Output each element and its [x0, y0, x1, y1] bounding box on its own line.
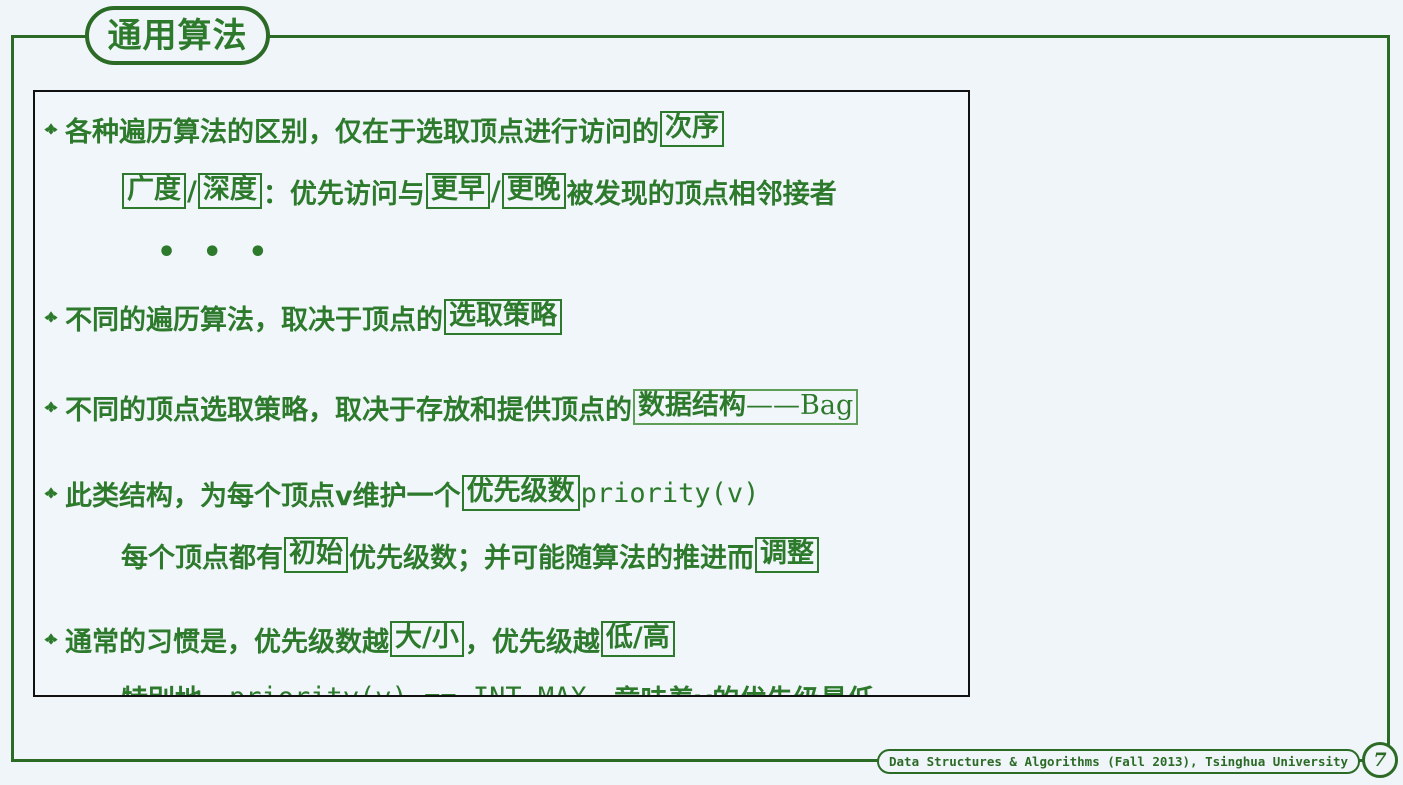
text-run: ——Bag	[746, 390, 853, 421]
bullet-line: 每个顶点都有初始优先级数；并可能随算法的推进而调整	[35, 532, 820, 578]
highlight-box: 更早	[426, 173, 490, 208]
footer-pill: Data Structures & Algorithms (Fall 2013)…	[877, 749, 1360, 774]
bullet-list: 各种遍历算法的区别，仅在于选取顶点进行访问的次序广度/深度：优先访问与更早/更晚…	[35, 98, 968, 695]
bullet-line: • • •	[35, 230, 275, 276]
diamond-bullet-icon	[41, 120, 61, 140]
highlight-box: 次序	[660, 111, 724, 146]
diamond-bullet-icon	[41, 398, 61, 418]
text-run: 优先级数；并可能随算法的推进而	[349, 536, 754, 575]
highlight-box: 数据结构——Bag	[633, 389, 858, 424]
text-run: 通常的习惯是，优先级数越	[65, 620, 389, 659]
highlight-box: 选取策略	[444, 299, 562, 334]
text-run: ，意味着v的优先级最低	[587, 678, 875, 698]
text-run: 特别地，	[121, 678, 229, 698]
text-run: ，优先级越	[465, 620, 600, 659]
text-run: /	[491, 176, 501, 207]
highlight-box: 更晚	[502, 173, 566, 208]
text-run: 此类结构，为每个顶点v维护一个	[65, 474, 461, 513]
ellipsis-marker: • • •	[157, 238, 275, 268]
text-run: priority(v) == INT_MAX	[229, 682, 587, 698]
slide-title-pill: 通用算法	[85, 6, 270, 65]
text-run: 不同的遍历算法，取决于顶点的	[65, 298, 443, 337]
highlight-box: 深度	[198, 173, 262, 208]
page-number-badge: 7	[1362, 742, 1398, 778]
bullet-line: 特别地，priority(v) == INT_MAX，意味着v的优先级最低	[35, 674, 874, 697]
highlight-box: 大/小	[390, 621, 464, 656]
text-run: 数据结构	[638, 390, 746, 421]
text-run: 各种遍历算法的区别，仅在于选取顶点进行访问的	[65, 110, 659, 149]
diamond-bullet-icon	[41, 308, 61, 328]
text-run: 被发现的顶点相邻接者	[567, 172, 837, 211]
text-run: ：优先访问与	[263, 172, 425, 211]
bullet-line: 广度/深度：优先访问与更早/更晚被发现的顶点相邻接者	[35, 168, 837, 214]
text-run: priority(v)	[581, 478, 760, 509]
highlight-box: 优先级数	[462, 475, 580, 510]
highlight-box: 低/高	[601, 621, 675, 656]
bullet-line: 不同的遍历算法，取决于顶点的选取策略	[35, 294, 563, 340]
content-panel: 各种遍历算法的区别，仅在于选取顶点进行访问的次序广度/深度：优先访问与更早/更晚…	[33, 90, 970, 697]
page-title: 通用算法	[108, 19, 248, 53]
highlight-box: 广度	[122, 173, 186, 208]
footer-course-label: Data Structures & Algorithms (Fall 2013)…	[889, 754, 1348, 769]
bullet-line: 通常的习惯是，优先级数越大/小，优先级越低/高	[35, 616, 676, 662]
bullet-line: 各种遍历算法的区别，仅在于选取顶点进行访问的次序	[35, 106, 725, 152]
page-number: 7	[1373, 751, 1386, 770]
text-run: 不同的顶点选取策略，取决于存放和提供顶点的	[65, 388, 632, 427]
bullet-line: 此类结构，为每个顶点v维护一个优先级数priority(v)	[35, 470, 759, 516]
bullet-line: 不同的顶点选取策略，取决于存放和提供顶点的数据结构——Bag	[35, 384, 859, 430]
highlight-box: 调整	[755, 537, 819, 572]
diamond-bullet-icon	[41, 630, 61, 650]
text-run: 每个顶点都有	[121, 536, 283, 575]
diamond-bullet-icon	[41, 484, 61, 504]
highlight-box: 初始	[284, 537, 348, 572]
text-run: /	[187, 176, 197, 207]
